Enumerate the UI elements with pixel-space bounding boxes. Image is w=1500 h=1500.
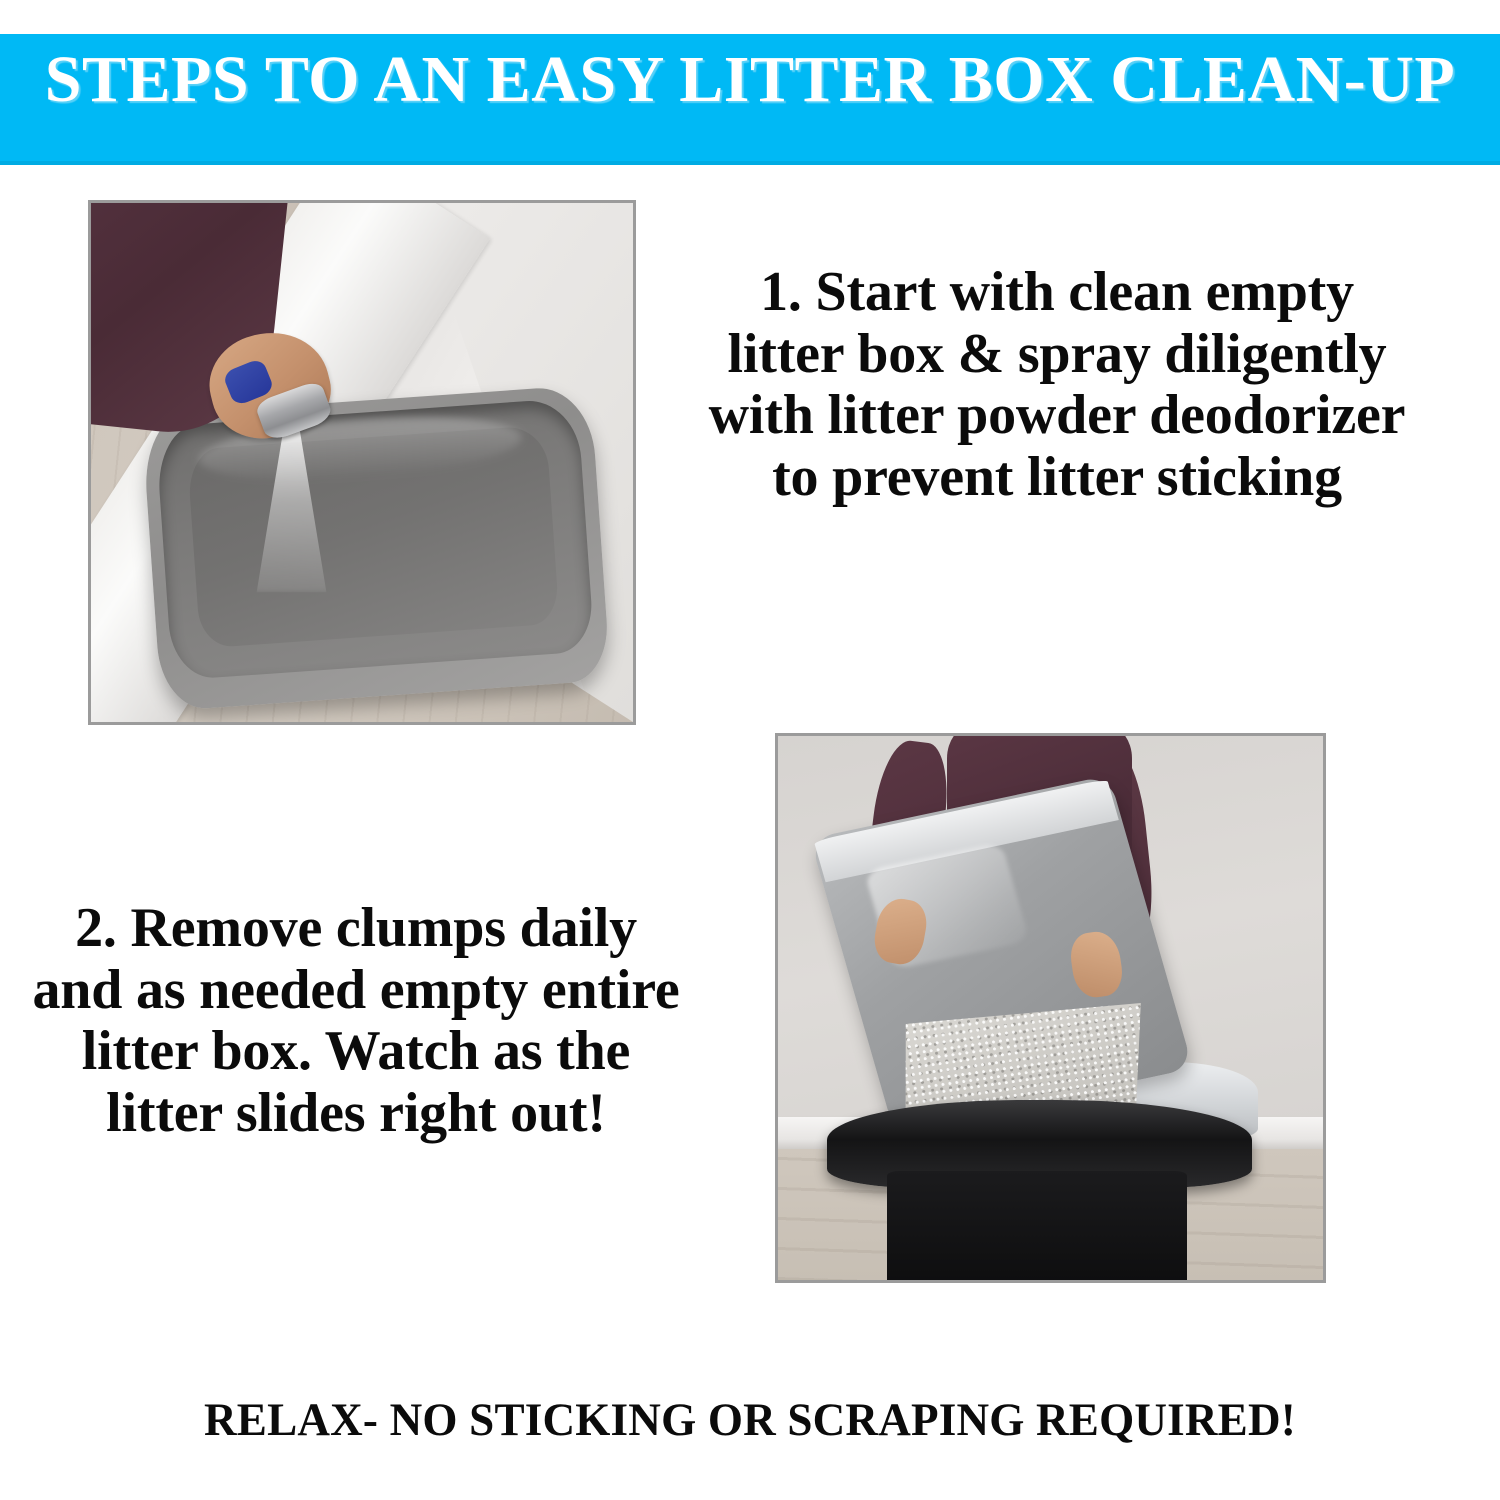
step-2-instruction-text: 2. Remove clumps daily and as needed emp… [24,898,688,1144]
photo-spraying-empty-litter-box [88,200,636,725]
header-banner: STEPS TO AN EASY LITTER BOX CLEAN-UP [0,34,1500,165]
page-title: STEPS TO AN EASY LITTER BOX CLEAN-UP [0,40,1500,120]
step-1-instruction-text: 1. Start with clean empty litter box & s… [700,262,1414,508]
photo-2-scene [778,736,1323,1280]
infographic-poster: STEPS TO AN EASY LITTER BOX CLEAN-UP 1. … [0,0,1500,1500]
black-trash-can-body [887,1171,1187,1280]
photo-dumping-litter-into-trash-can [775,733,1326,1283]
grey-litter-box [141,385,610,711]
photo-1-scene [91,203,633,722]
footer-tagline: RELAX- NO STICKING OR SCRAPING REQUIRED! [30,1393,1470,1447]
